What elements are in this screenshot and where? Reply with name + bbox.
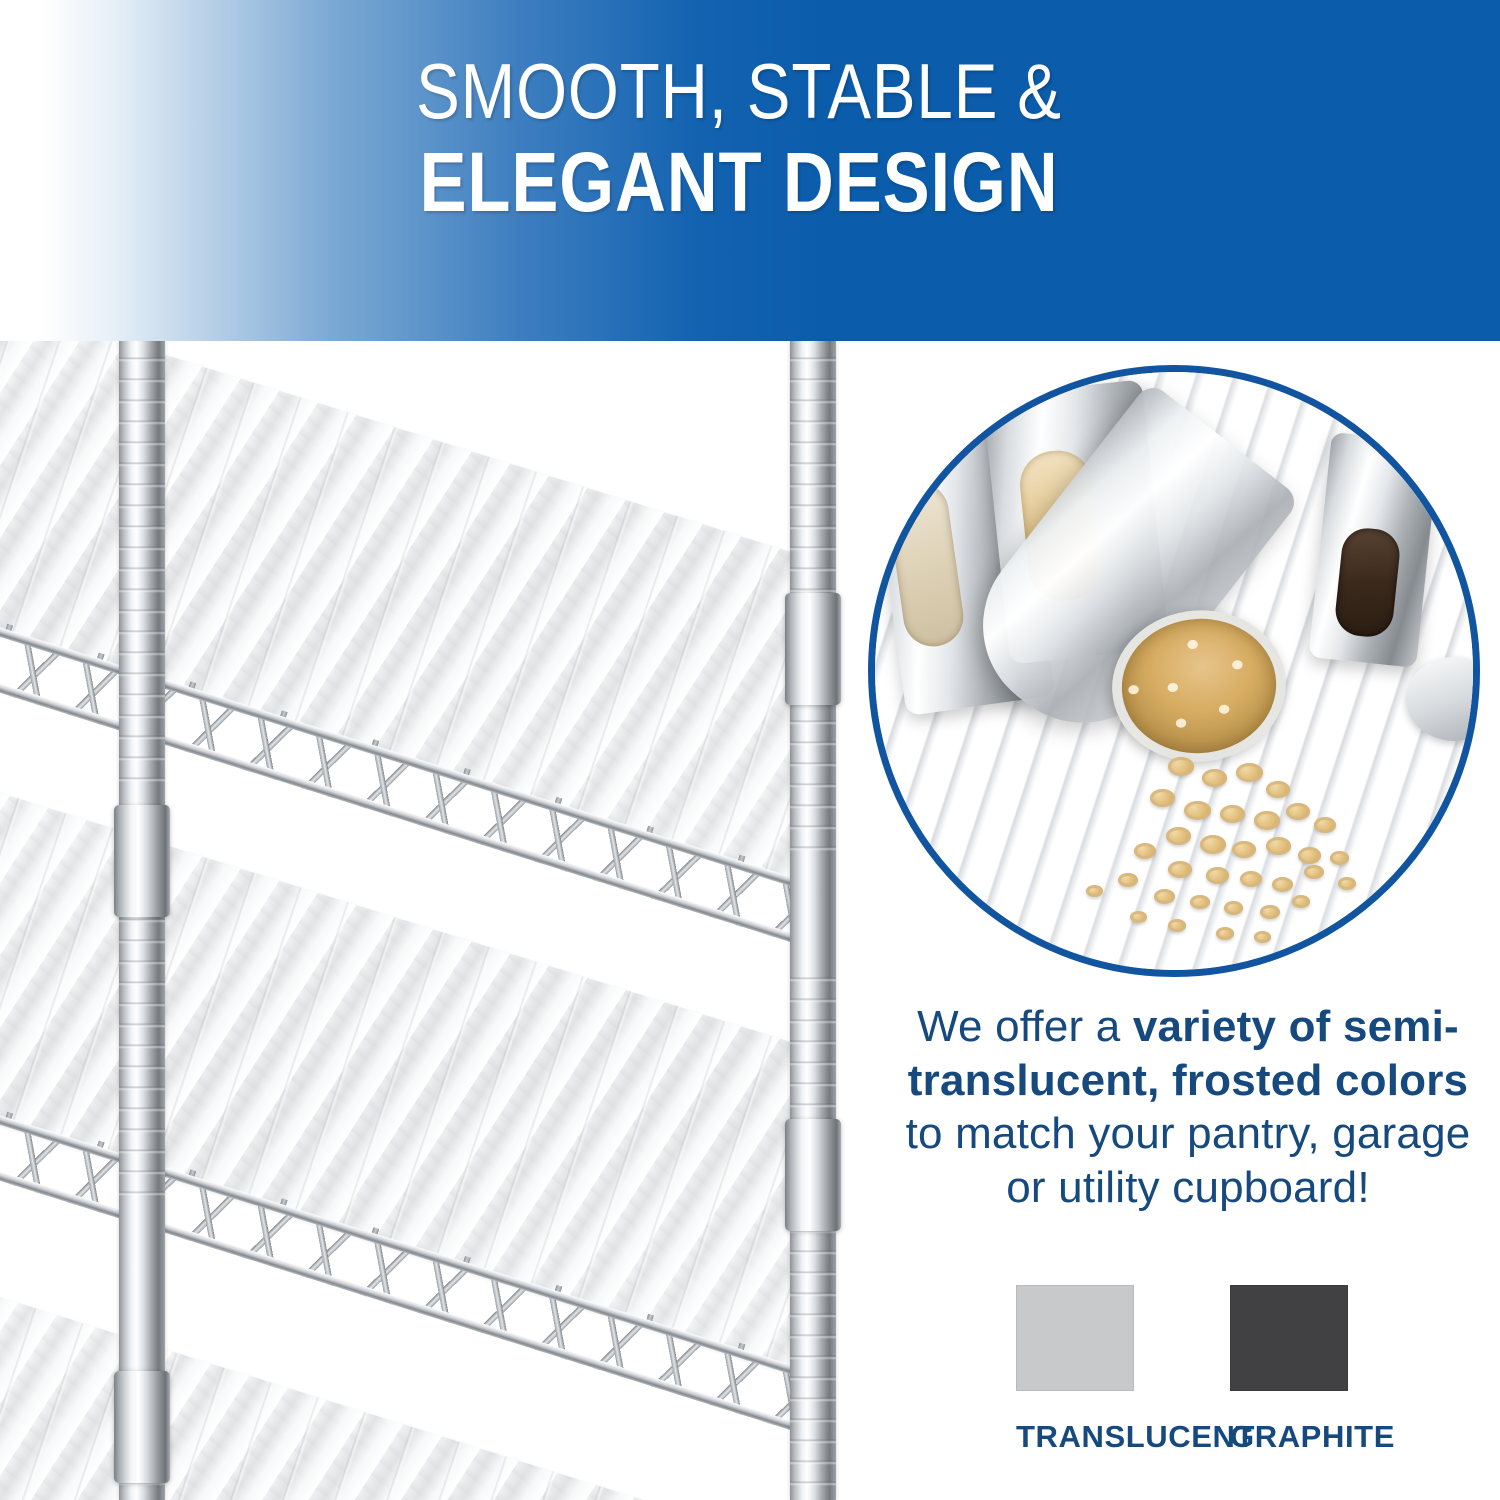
cereal-piece xyxy=(1304,865,1324,879)
cereal-piece xyxy=(1314,817,1336,833)
header-banner: SMOOTH, STABLE & ELEGANT DESIGN xyxy=(0,0,1500,341)
copy-segment-2: to match your pantry, garage or utility … xyxy=(906,1109,1471,1212)
canister-lid xyxy=(1406,657,1480,741)
post-ribs-left-upper xyxy=(119,341,165,791)
swatch-cell-translucent[interactable]: TRANSLUCENT xyxy=(1016,1285,1134,1455)
copy-segment-0: We offer a xyxy=(917,1002,1133,1051)
swatch-chip-translucent[interactable] xyxy=(1016,1285,1134,1391)
swatch-label-translucent: TRANSLUCENT xyxy=(1016,1419,1134,1455)
cereal-piece xyxy=(1154,889,1175,904)
cereal-piece xyxy=(1272,877,1293,892)
canister-coffee-beans xyxy=(1308,432,1439,668)
canister-window-oats xyxy=(885,479,967,651)
page-title-line-1: SMOOTH, STABLE & xyxy=(118,52,1360,130)
marketing-copy: We offer a variety of semi-translucent, … xyxy=(888,1000,1488,1215)
cereal-piece xyxy=(1206,867,1229,884)
post-ribs-right-3 xyxy=(790,961,836,1121)
cereal-piece xyxy=(1254,811,1280,830)
cereal-piece xyxy=(1292,895,1310,908)
cereal-piece xyxy=(1086,885,1103,897)
cereal-piece xyxy=(1330,851,1349,865)
post-collar-right-upper xyxy=(785,593,841,705)
color-swatch-row: TRANSLUCENTGRAPHITE xyxy=(940,1285,1440,1455)
post-collar-left-upper xyxy=(114,805,170,917)
header-title-block: SMOOTH, STABLE & ELEGANT DESIGN xyxy=(0,0,1500,224)
cereal-piece xyxy=(1338,877,1356,890)
post-collar-right-lower xyxy=(785,1119,841,1231)
cereal-piece xyxy=(1286,803,1310,820)
cereal-piece xyxy=(1260,905,1280,919)
cereal-piece xyxy=(1150,789,1175,807)
shelving-product-photo xyxy=(0,341,900,1500)
cereal-piece xyxy=(1118,873,1138,887)
swatch-chip-graphite[interactable] xyxy=(1230,1285,1348,1391)
cereal-piece xyxy=(1232,841,1256,858)
cereal-piece xyxy=(1130,911,1147,923)
cereal-piece xyxy=(1298,847,1321,864)
cereal-piece xyxy=(1190,895,1210,909)
cereal-piece xyxy=(1200,835,1226,854)
post-ribs-right-1 xyxy=(790,341,836,601)
canister-window-coffee xyxy=(1333,526,1402,639)
swatch-cell-graphite[interactable]: GRAPHITE xyxy=(1230,1285,1348,1455)
inset-detail-photo xyxy=(868,365,1480,977)
cereal-piece xyxy=(1184,801,1211,820)
cereal-piece xyxy=(1168,861,1192,878)
cereal-piece xyxy=(1134,843,1156,859)
post-ribs-left-middle xyxy=(119,881,165,1211)
inset-scene xyxy=(868,365,1480,977)
cereal-piece xyxy=(1220,805,1245,823)
cereal-piece xyxy=(1266,781,1290,798)
cereal-piece xyxy=(1166,827,1191,845)
cereal-piece xyxy=(1168,919,1186,932)
cereal-piece xyxy=(1216,927,1234,940)
cereal-piece xyxy=(1224,901,1243,915)
cereal-piece xyxy=(1168,757,1194,776)
cereal-piece xyxy=(1266,837,1291,855)
marketing-infographic: SMOOTH, STABLE & ELEGANT DESIGN xyxy=(0,0,1500,1500)
cereal-piece xyxy=(1254,931,1271,943)
wire-shelving-unit xyxy=(0,341,900,1500)
swatch-label-graphite: GRAPHITE xyxy=(1230,1419,1348,1455)
cereal-piece xyxy=(1202,769,1227,787)
cereal-piece xyxy=(1240,871,1262,887)
page-title-line-2: ELEGANT DESIGN xyxy=(118,140,1360,224)
cereal-piece xyxy=(1236,763,1263,782)
post-collar-left-lower xyxy=(114,1371,170,1483)
